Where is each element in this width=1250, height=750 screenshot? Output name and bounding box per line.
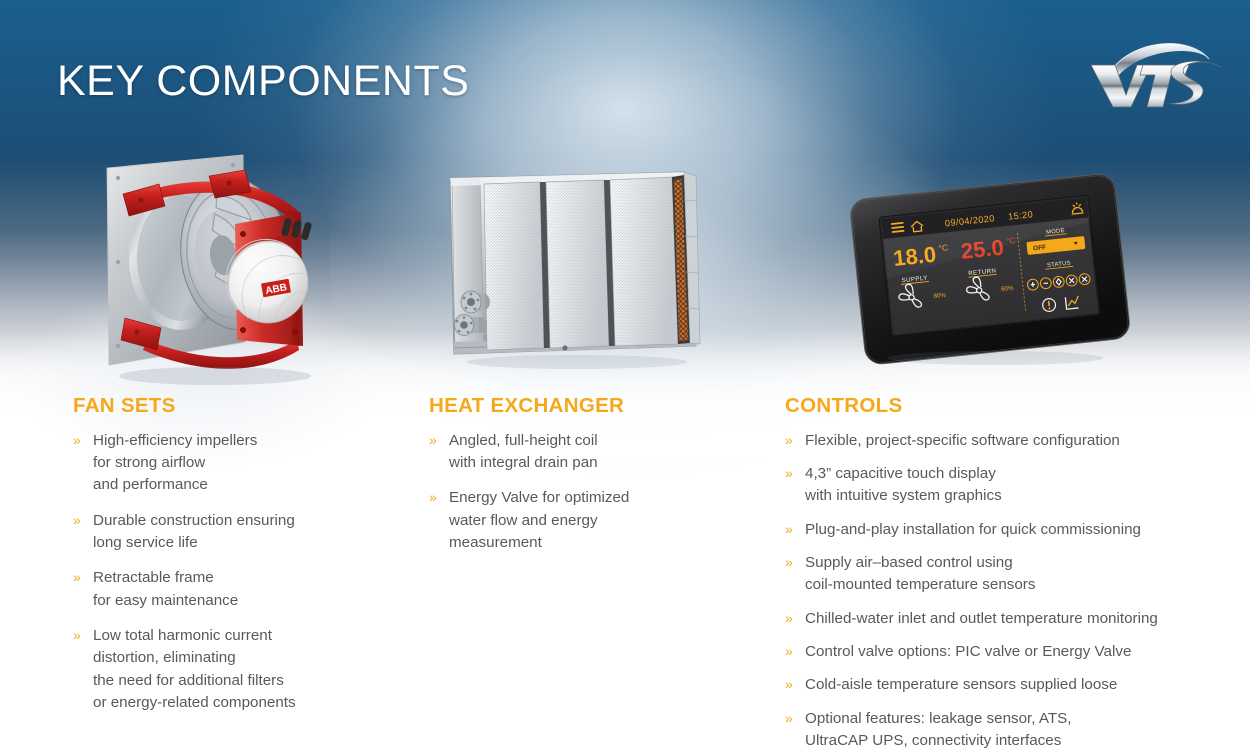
list-item-text: Retractable framefor easy maintenance [93, 569, 238, 608]
list-item: »Low total harmonic currentdistortion, e… [73, 625, 403, 714]
list-item: »4,3” capacitive touch displaywith intui… [785, 463, 1235, 508]
bullet-marker: » [785, 708, 793, 730]
list-item-text: Energy Valve for optimizedwater flow and… [449, 489, 629, 551]
list-item: »Energy Valve for optimizedwater flow an… [429, 487, 759, 554]
svg-text:60%: 60% [1001, 285, 1015, 293]
list-item-text: 4,3” capacitive touch displaywith intuit… [805, 465, 1002, 504]
bullet-marker: » [73, 625, 81, 647]
bullet-marker: » [73, 510, 81, 532]
bullet-marker: » [429, 487, 437, 509]
list-item: »Retractable framefor easy maintenance [73, 567, 403, 612]
list-item-text: Flexible, project-specific software conf… [805, 432, 1120, 449]
column-fan-sets: FAN SETS »High-efficiency impellersfor s… [73, 396, 403, 727]
list-item: »High-efficiency impellersfor strong air… [73, 430, 403, 497]
bullet-marker: » [785, 430, 793, 452]
bullet-marker: » [785, 641, 793, 663]
list-item-text: Plug-and-play installation for quick com… [805, 521, 1141, 538]
list-item: »Chilled-water inlet and outlet temperat… [785, 608, 1235, 630]
bullet-marker: » [73, 567, 81, 589]
list-item-text: High-efficiency impellersfor strong airf… [93, 432, 257, 494]
list-item: »Control valve options: PIC valve or Ene… [785, 641, 1235, 663]
list-item-text: Low total harmonic currentdistortion, el… [93, 627, 296, 711]
list-item-text: Control valve options: PIC valve or Ener… [805, 643, 1131, 660]
controls-photo: 09/04/2020 15:20 18.0 °C SUPPLY [845, 172, 1135, 367]
svg-text:OFF: OFF [1033, 244, 1047, 252]
list-item-text: Supply air–based control usingcoil-mount… [805, 554, 1035, 593]
bullet-marker: » [785, 608, 793, 630]
bullet-list-fan-sets: »High-efficiency impellersfor strong air… [73, 430, 403, 715]
column-controls: CONTROLS »Flexible, project-specific sof… [785, 396, 1235, 750]
bullet-marker: » [785, 463, 793, 485]
bullet-marker: » [429, 430, 437, 452]
bullet-list-heat-exchanger: »Angled, full-height coilwith integral d… [429, 430, 759, 555]
list-item-text: Durable construction ensuringlong servic… [93, 512, 295, 551]
heat-exchanger-photo [432, 160, 722, 375]
bullet-list-controls: »Flexible, project-specific software con… [785, 430, 1235, 750]
list-item-text: Optional features: leakage sensor, ATS,U… [805, 710, 1072, 749]
list-item: »Angled, full-height coilwith integral d… [429, 430, 759, 475]
list-item-text: Chilled-water inlet and outlet temperatu… [805, 610, 1158, 627]
bullet-marker: » [785, 552, 793, 574]
list-item: »Flexible, project-specific software con… [785, 430, 1235, 452]
list-item-text: Cold-aisle temperature sensors supplied … [805, 676, 1117, 693]
column-heading-controls: CONTROLS [785, 396, 1235, 417]
vts-logo [1085, 33, 1227, 113]
list-item: »Optional features: leakage sensor, ATS,… [785, 708, 1235, 750]
page-title: KEY COMPONENTS [57, 57, 469, 106]
bullet-marker: » [785, 674, 793, 696]
list-item: »Durable construction ensuringlong servi… [73, 510, 403, 555]
list-item: »Plug-and-play installation for quick co… [785, 519, 1235, 541]
column-heading-heat-exchanger: HEAT EXCHANGER [429, 396, 759, 417]
list-item: »Supply air–based control usingcoil-moun… [785, 552, 1235, 597]
list-item-text: Angled, full-height coilwith integral dr… [449, 432, 598, 471]
bullet-marker: » [73, 430, 81, 452]
bullet-marker: » [785, 519, 793, 541]
column-heading-fan-sets: FAN SETS [73, 396, 403, 417]
list-item: »Cold-aisle temperature sensors supplied… [785, 674, 1235, 696]
column-heat-exchanger: HEAT EXCHANGER »Angled, full-height coil… [429, 396, 759, 567]
svg-text:80%: 80% [933, 292, 947, 300]
slide-root: KEY COMPONENTS [0, 0, 1250, 750]
fan-set-photo: ABB [85, 150, 355, 390]
